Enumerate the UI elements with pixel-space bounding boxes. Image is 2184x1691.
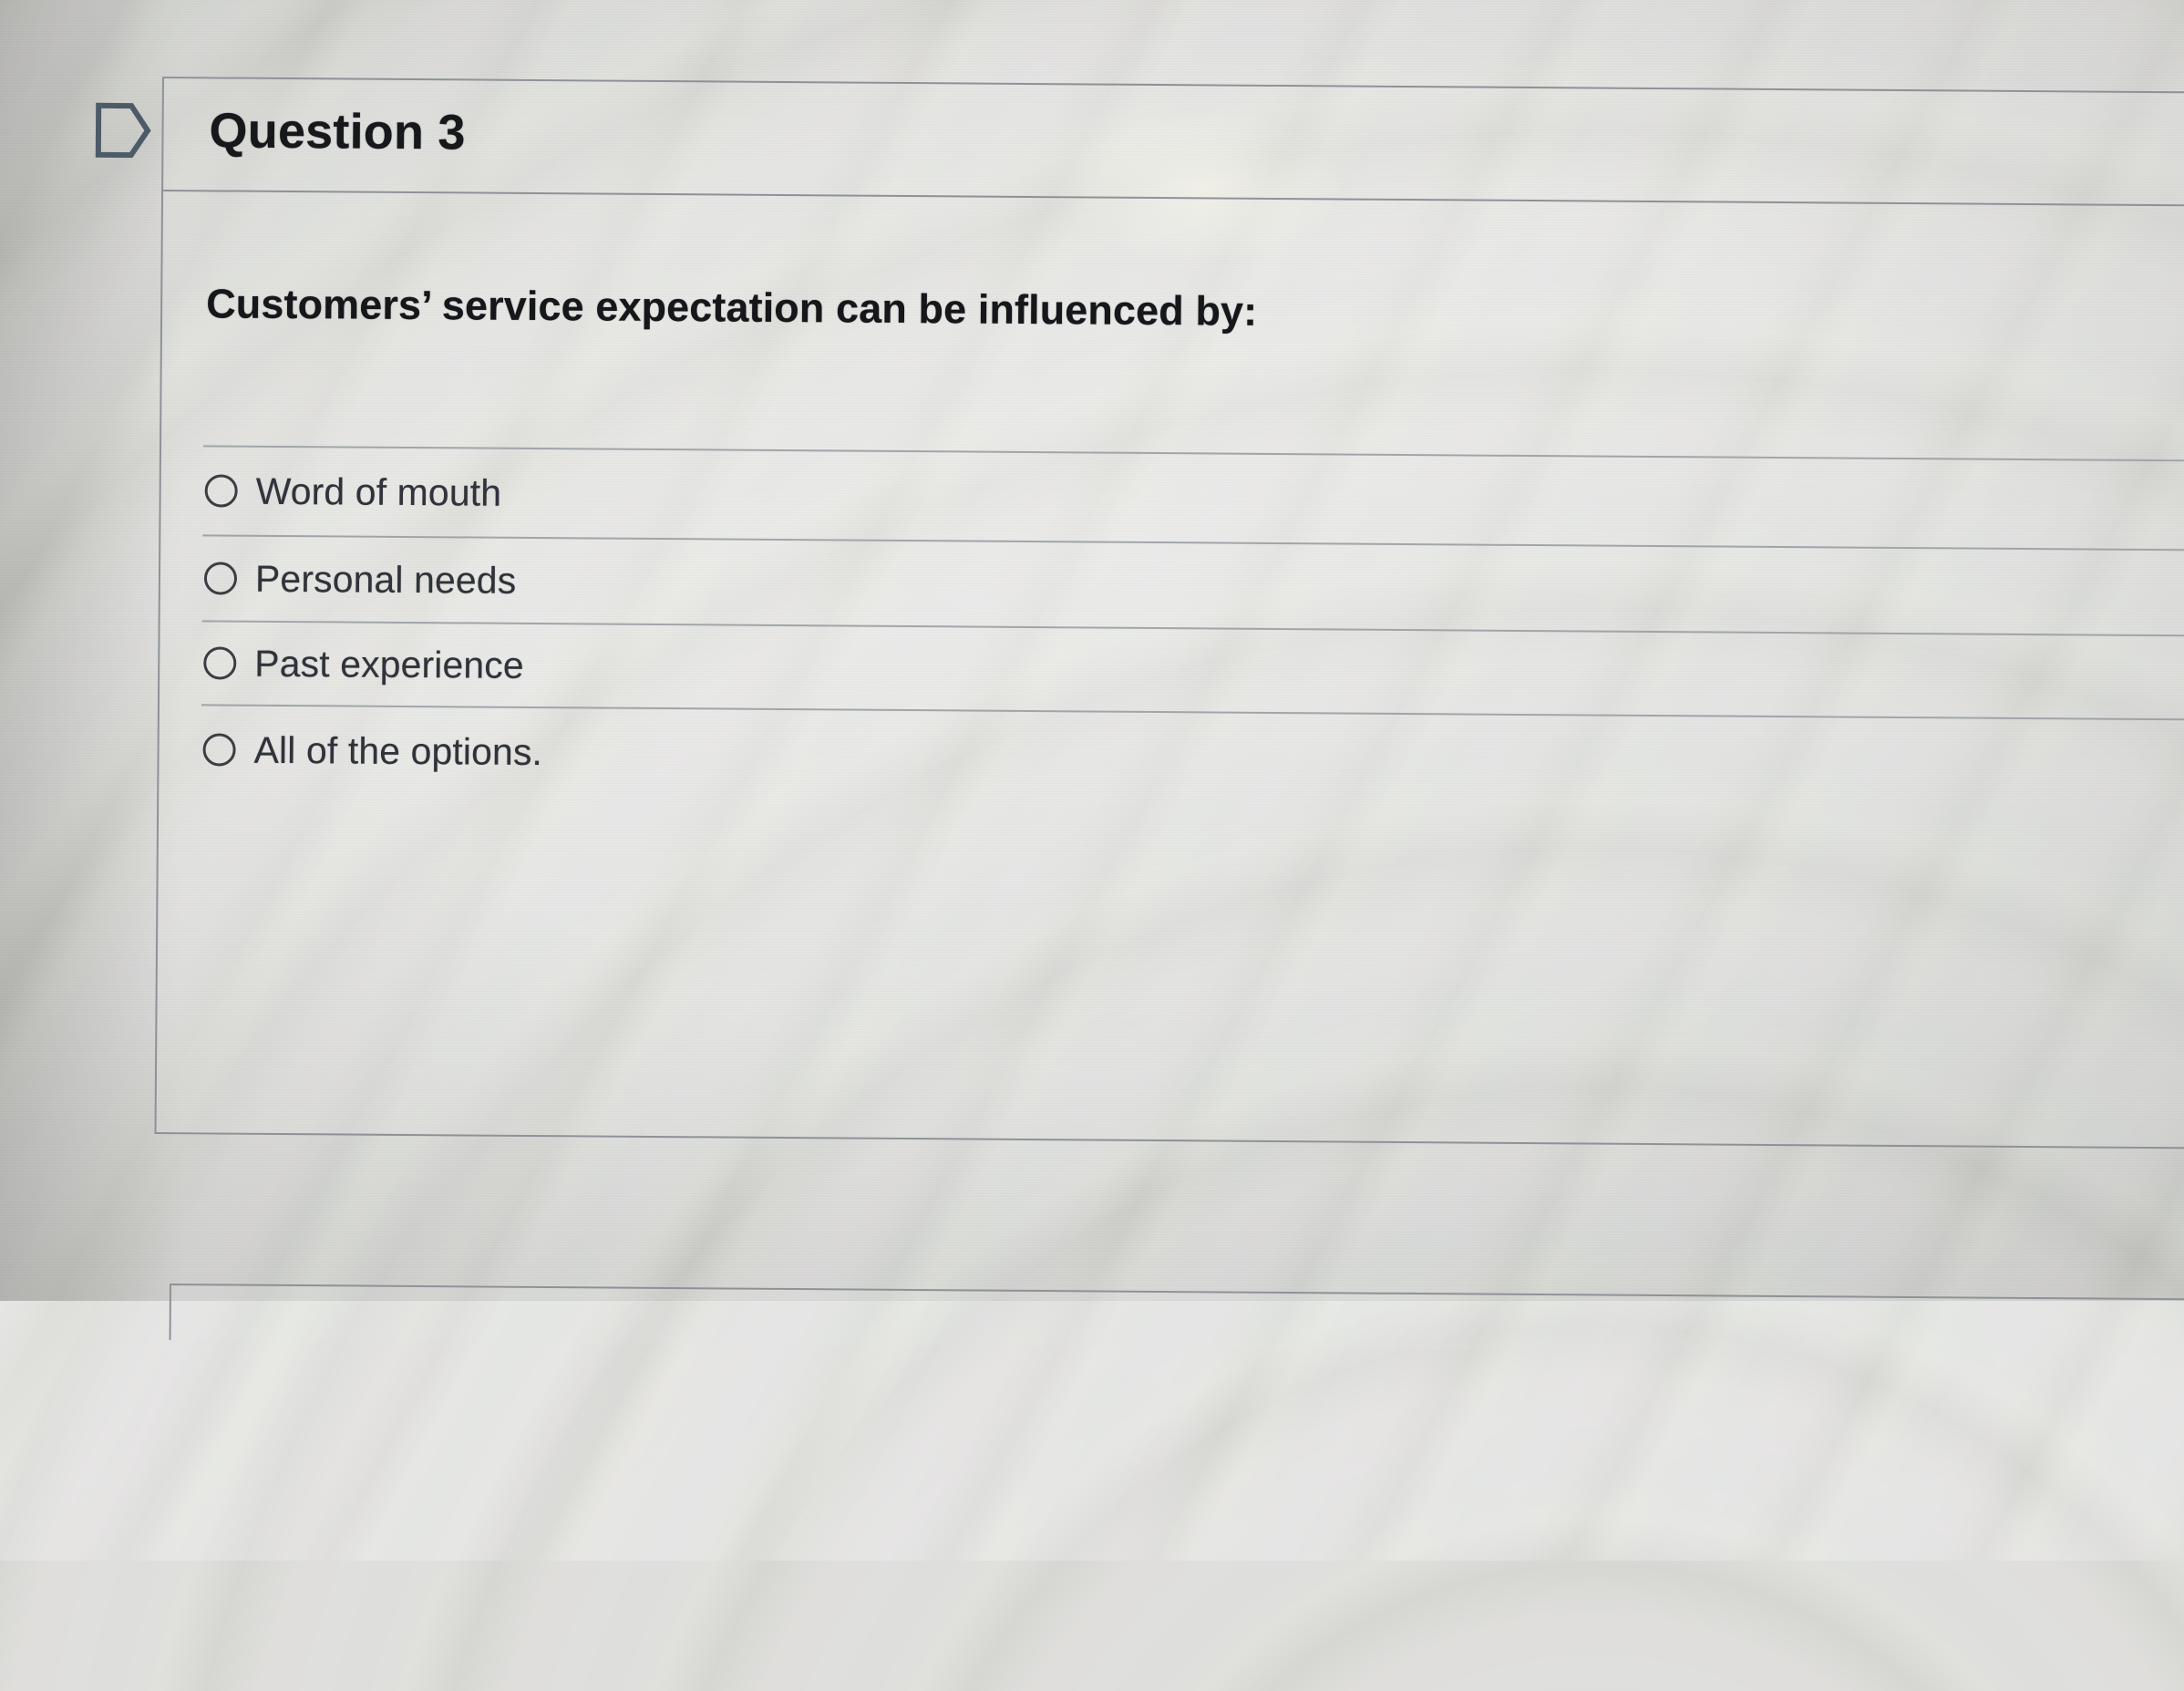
page-title: Question 3 [209,102,465,160]
answer-option-label: Past experience [254,642,524,686]
answer-option-label: Personal needs [255,557,517,602]
answer-option-3[interactable]: All of the options. [199,706,2184,808]
radio-unchecked-icon[interactable] [203,646,236,679]
tag-bookmark-icon[interactable] [95,100,151,160]
answer-option-0[interactable]: Word of mouth [201,447,2184,549]
question-card: Question 3 Customers’ service expectatio… [154,77,2184,1150]
answer-option-1[interactable]: Personal needs [201,536,2184,634]
radio-unchecked-icon[interactable] [204,562,237,594]
answer-option-label: Word of mouth [255,469,501,514]
answer-option-label: All of the options. [253,728,542,773]
radio-unchecked-icon[interactable] [202,733,235,766]
answer-option-2[interactable]: Past experience [200,622,2184,718]
question-card-body: Customers’ service expectation can be in… [157,191,2184,1148]
answer-options-list: Word of mouth Personal needs Past experi… [199,445,2184,808]
question-prompt-text: Customers’ service expectation can be in… [206,279,2184,342]
radio-unchecked-icon[interactable] [205,474,238,507]
question-card-header: Question 3 [163,78,2184,207]
